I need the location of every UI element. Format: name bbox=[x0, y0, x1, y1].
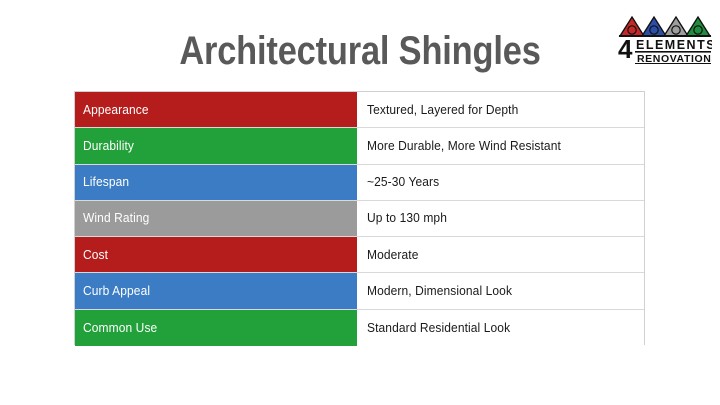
table-row: Common Use Standard Residential Look bbox=[75, 310, 644, 346]
table-row-label-cell: Cost bbox=[75, 237, 358, 272]
table-row: Appearance Textured, Layered for Depth bbox=[75, 92, 644, 128]
page-title: Architectural Shingles bbox=[50, 28, 669, 74]
slide-canvas: 4 ELEMENTS RENOVATIONS Architectural Shi… bbox=[0, 0, 720, 405]
table-row-value: Moderate bbox=[367, 248, 418, 262]
table-row-value-cell: More Durable, More Wind Resistant bbox=[358, 128, 644, 163]
table-row: Curb Appeal Modern, Dimensional Look bbox=[75, 273, 644, 309]
table-row: Durability More Durable, More Wind Resis… bbox=[75, 128, 644, 164]
table-row: Wind Rating Up to 130 mph bbox=[75, 201, 644, 237]
table-row-label: Lifespan bbox=[83, 175, 129, 189]
table-row-value-cell: Up to 130 mph bbox=[358, 201, 644, 236]
table-row-label-cell: Lifespan bbox=[75, 165, 358, 200]
table-row-value: More Durable, More Wind Resistant bbox=[367, 139, 561, 153]
table-row-label: Appearance bbox=[83, 103, 149, 117]
table-row-label-cell: Curb Appeal bbox=[75, 273, 358, 308]
table-row-label: Wind Rating bbox=[83, 211, 149, 225]
table-row-label: Curb Appeal bbox=[83, 284, 150, 298]
table-row-label-cell: Wind Rating bbox=[75, 201, 358, 236]
table-row-value-cell: ~25-30 Years bbox=[358, 165, 644, 200]
table-row-value-cell: Textured, Layered for Depth bbox=[358, 92, 644, 127]
table-row: Cost Moderate bbox=[75, 237, 644, 273]
table-row-value: Up to 130 mph bbox=[367, 211, 447, 225]
table-row-value-cell: Standard Residential Look bbox=[358, 310, 644, 346]
table-row-value-cell: Moderate bbox=[358, 237, 644, 272]
table-row-label: Common Use bbox=[83, 321, 157, 335]
table-row-value: ~25-30 Years bbox=[367, 175, 439, 189]
table-row-value: Standard Residential Look bbox=[367, 321, 510, 335]
table-row-label-cell: Common Use bbox=[75, 310, 358, 346]
table-row-value-cell: Modern, Dimensional Look bbox=[358, 273, 644, 308]
table-row-label: Durability bbox=[83, 139, 134, 153]
table-row-label: Cost bbox=[83, 248, 108, 262]
table-row-label-cell: Appearance bbox=[75, 92, 358, 127]
comparison-table: Appearance Textured, Layered for Depth D… bbox=[74, 91, 645, 345]
table-row: Lifespan ~25-30 Years bbox=[75, 165, 644, 201]
table-row-label-cell: Durability bbox=[75, 128, 358, 163]
table-row-value: Textured, Layered for Depth bbox=[367, 103, 518, 117]
table-row-value: Modern, Dimensional Look bbox=[367, 284, 512, 298]
